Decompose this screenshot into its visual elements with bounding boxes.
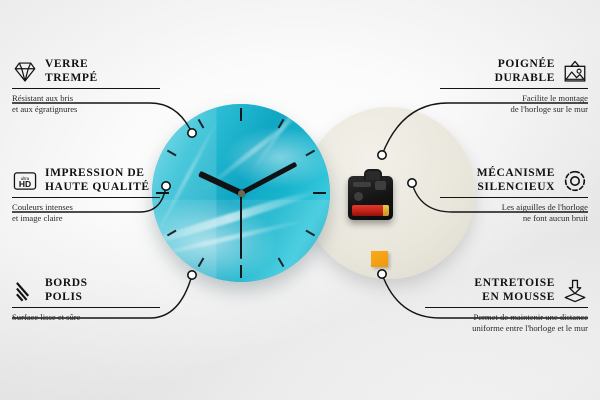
feature-title-line2: SILENCIEUX [477,181,555,195]
feature-divider [440,197,588,198]
feature-divider [440,88,588,89]
feature-header: ultra HD IMPRESSION DE HAUTE QUALITÉ [12,167,160,194]
feature-title: POIGNÉE DURABLE [495,58,555,85]
clock-second-hand [240,193,242,259]
clock-tick [240,108,242,121]
feature-bords-polis: BORDS POLIS Surface lisse et sûre [12,277,160,323]
feature-desc-line1: Surface lisse et sûre [12,312,160,323]
mechanism-detail [354,192,363,201]
feature-title-line1: VERRE [45,58,98,72]
feature-title-line2: POLIS [45,291,88,305]
feature-title-line1: ENTRETOISE [474,277,555,291]
feature-title: IMPRESSION DE HAUTE QUALITÉ [45,167,150,194]
feature-desc-line1: Les aiguilles de l'horloge [440,202,588,213]
feature-desc-line1: Résistant aux bris [12,93,160,104]
feature-description: Les aiguilles de l'horloge ne font aucun… [440,202,588,223]
feature-divider [12,88,160,89]
feature-title-line2: HAUTE QUALITÉ [45,181,150,195]
gear-icon [562,168,588,194]
mechanism-hanger-icon [364,169,382,180]
feature-description: Résistant aux bris et aux égratignures [12,93,160,114]
diamond-icon [12,59,38,85]
feature-header: ENTRETOISE EN MOUSSE [425,277,588,304]
feature-description: Facilite le montage de l'horloge sur le … [440,93,588,114]
polished-edges-icon [12,278,38,304]
clock-tick [313,192,326,194]
feature-title: VERRE TREMPÉ [45,58,98,85]
battery-terminal [383,205,389,216]
feature-desc-line1: Permet de maintenir une distance [425,312,588,323]
feature-description: Permet de maintenir une distance uniform… [425,312,588,333]
feature-title: BORDS POLIS [45,277,88,304]
feature-desc-line1: Facilite le montage [440,93,588,104]
feature-desc-line2: et image claire [12,213,160,224]
mechanism-detail [375,181,386,190]
feature-desc-line2: uniforme entre l'horloge et le mur [425,323,588,334]
feature-desc-line2: ne font aucun bruit [440,213,588,224]
feature-desc-line1: Couleurs intenses [12,202,160,213]
mechanism-detail [353,182,371,187]
feature-poignee-durable: POIGNÉE DURABLE Facilite le montage de l… [440,58,588,114]
feature-header: POIGNÉE DURABLE [440,58,588,85]
feature-header: VERRE TREMPÉ [12,58,160,85]
feature-title-line1: BORDS [45,277,88,291]
battery [352,205,389,216]
feature-divider [425,307,588,308]
feature-title-line1: IMPRESSION DE [45,167,150,181]
feature-title-line1: POIGNÉE [495,58,555,72]
product-feature-infographic: VERRE TREMPÉ Résistant aux bris et aux é… [0,0,600,400]
feature-header: MÉCANISME SILENCIEUX [440,167,588,194]
feature-title-line2: EN MOUSSE [474,291,555,305]
clock-hand-cap [238,190,245,197]
feature-title: MÉCANISME SILENCIEUX [477,167,555,194]
feature-title-line2: DURABLE [495,72,555,86]
feature-desc-line2: et aux égratignures [12,104,160,115]
ultra-hd-icon-large-text: HD [19,179,31,189]
feature-impression-haute-qualite: ultra HD IMPRESSION DE HAUTE QUALITÉ Cou… [12,167,160,223]
feature-title-line1: MÉCANISME [477,167,555,181]
feature-entretoise-en-mousse: ENTRETOISE EN MOUSSE Permet de maintenir… [425,277,588,333]
feature-desc-line2: de l'horloge sur le mur [440,104,588,115]
clock-tick [240,265,242,278]
feature-description: Surface lisse et sûre [12,312,160,323]
feature-description: Couleurs intenses et image claire [12,202,160,223]
feature-title: ENTRETOISE EN MOUSSE [474,277,555,304]
clock-front-face [152,104,330,282]
feature-title-line2: TREMPÉ [45,72,98,86]
foam-spacer-icon [562,278,588,304]
feature-divider [12,197,160,198]
feature-verre-trempe: VERRE TREMPÉ Résistant aux bris et aux é… [12,58,160,114]
feature-header: BORDS POLIS [12,277,160,304]
feature-divider [12,307,160,308]
ultra-hd-icon: ultra HD [12,168,38,194]
feature-mecanisme-silencieux: MÉCANISME SILENCIEUX Les aiguilles de l'… [440,167,588,223]
clock-mechanism [348,176,393,220]
foam-spacer-pad [371,251,388,267]
hanging-frame-icon [562,59,588,85]
